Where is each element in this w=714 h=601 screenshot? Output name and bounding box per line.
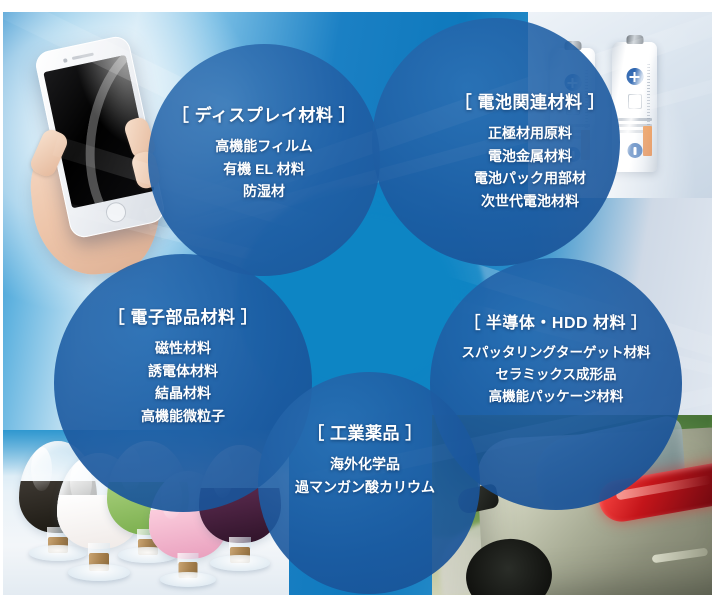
group-item: 海外化学品: [215, 453, 515, 476]
group-item: スパッタリングターゲット材料: [406, 342, 706, 364]
group-item: 次世代電池材料: [380, 190, 680, 213]
materials-business-infographic: ［ ディスプレイ材料 ］ 高機能フィルム 有機 EL 材料 防湿材 ［ 電池関連…: [0, 0, 714, 601]
left-margin: [0, 0, 3, 601]
group-item: 有機 EL 材料: [114, 158, 414, 181]
group-item: 高機能パッケージ材料: [406, 386, 706, 408]
group-semiconductor-hdd-materials: ［ 半導体・HDD 材料 ］ スパッタリングターゲット材料 セラミックス成形品 …: [406, 309, 706, 408]
group-item: 過マンガン酸カリウム: [215, 476, 515, 499]
group-item: セラミックス成形品: [406, 364, 706, 386]
group-item: 電池金属材料: [380, 145, 680, 168]
group-electronic-component-materials: ［ 電子部品材料 ］ 磁性材料 誘電体材料 結晶材料 高機能微粒子: [33, 303, 333, 428]
group-item: 電池パック用部材: [380, 167, 680, 190]
group-battery-materials: ［ 電池関連材料 ］ 正極材用原料 電池金属材料 電池パック用部材 次世代電池材…: [380, 88, 680, 213]
group-item: 正極材用原料: [380, 122, 680, 145]
group-item: 高機能フィルム: [114, 135, 414, 158]
group-heading: ［ 工業薬品 ］: [215, 419, 515, 444]
top-margin: [0, 0, 714, 12]
group-heading: ［ 半導体・HDD 材料 ］: [406, 309, 706, 333]
group-item: 誘電体材料: [33, 360, 333, 383]
group-heading: ［ 電子部品材料 ］: [33, 303, 333, 328]
group-industrial-chemicals: ［ 工業薬品 ］ 海外化学品 過マンガン酸カリウム: [215, 419, 515, 498]
group-heading: ［ ディスプレイ材料 ］: [114, 101, 414, 126]
group-item: 防湿材: [114, 180, 414, 203]
group-display-materials: ［ ディスプレイ材料 ］ 高機能フィルム 有機 EL 材料 防湿材: [114, 101, 414, 203]
group-item: 結晶材料: [33, 382, 333, 405]
bottom-margin: [0, 595, 714, 601]
group-item: 磁性材料: [33, 337, 333, 360]
group-heading: ［ 電池関連材料 ］: [380, 88, 680, 113]
